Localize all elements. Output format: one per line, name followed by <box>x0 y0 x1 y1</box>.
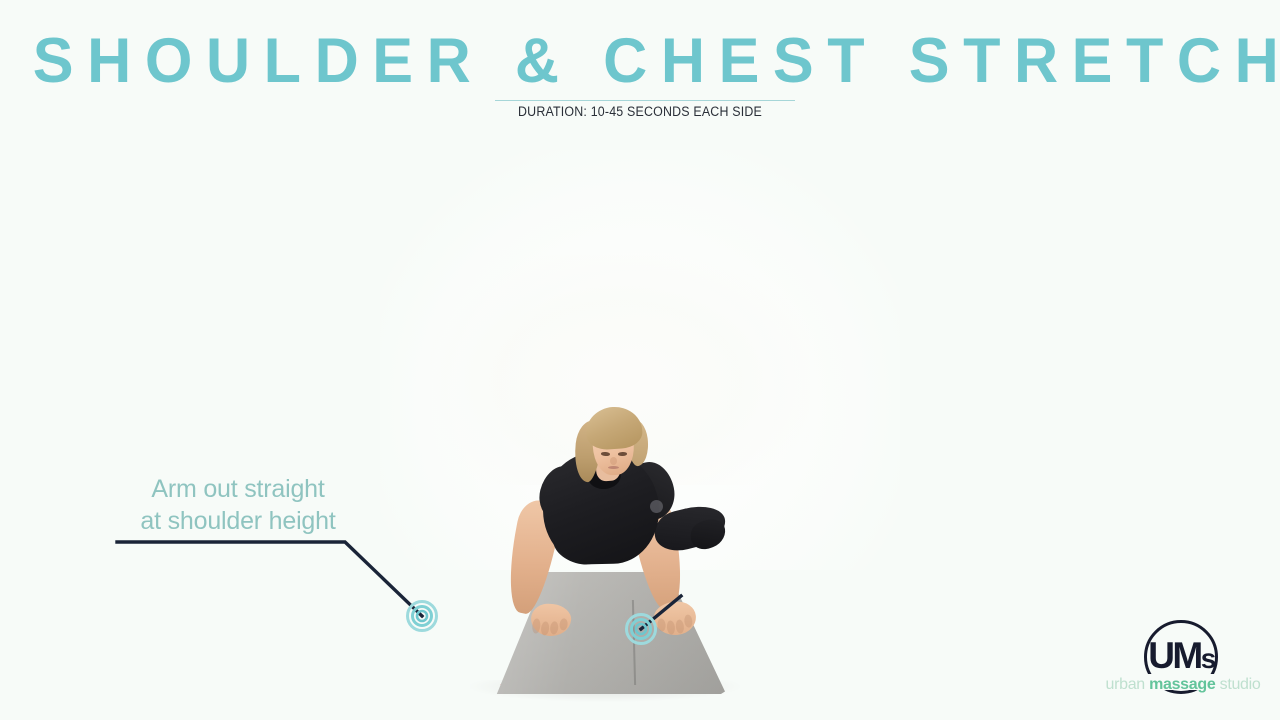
page-title: SHOULDER & CHEST STRETCH <box>19 24 1261 98</box>
exercise-instruction-slide: SHOULDER & CHEST STRETCH DURATION: 10-45… <box>0 0 1280 720</box>
brand-logo[interactable]: UMs urban massage studio <box>1098 618 1268 708</box>
right-eye <box>618 452 627 456</box>
left-eye <box>601 452 610 456</box>
nose <box>610 457 617 465</box>
title-divider <box>495 100 795 101</box>
logo-word-urban: urban <box>1105 676 1149 693</box>
logo-monogram-s: s <box>1201 643 1214 674</box>
logo-wordmark: urban massage studio <box>1098 676 1268 694</box>
mouth <box>608 466 619 469</box>
callout-line-1: Arm out straight <box>118 473 358 505</box>
hair <box>585 405 644 451</box>
callout-line-2: at shoulder height <box>118 505 358 537</box>
arm-height-callout-text: Arm out straight at shoulder height <box>118 473 358 537</box>
logo-word-studio: studio <box>1215 676 1260 693</box>
logo-word-massage: massage <box>1149 676 1215 693</box>
logo-monogram-um: UM <box>1148 635 1201 676</box>
tshirt-logo <box>650 500 663 513</box>
duration-subtitle: DURATION: 10-45 SECONDS EACH SIDE <box>51 104 1229 119</box>
logo-monogram: UMs <box>1144 636 1218 679</box>
